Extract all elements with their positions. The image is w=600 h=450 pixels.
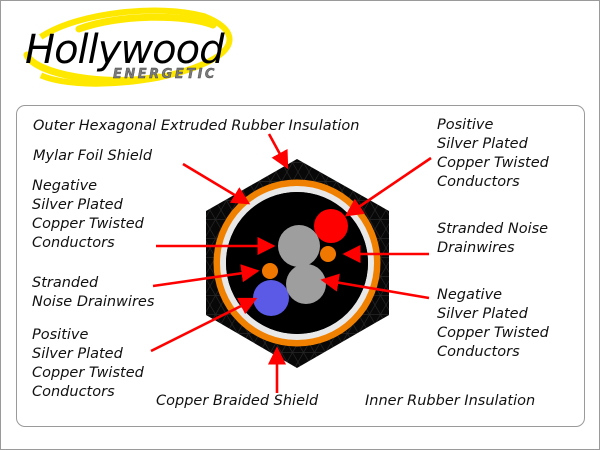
hollywood-energetic-logo: Hollywood ENERGETIC bbox=[9, 5, 239, 91]
label-outer-hexagonal-rubber-insulation: Outer Hexagonal Extruded Rubber Insulati… bbox=[33, 117, 359, 136]
label-stranded-noise-drainwires-left: Stranded Noise Drainwires bbox=[32, 274, 154, 312]
label-positive-conductors-left: Positive Silver Plated Copper Twisted Co… bbox=[32, 326, 144, 402]
label-negative-conductors-right: Negative Silver Plated Copper Twisted Co… bbox=[437, 286, 549, 362]
cable-cross-section-infographic: Hollywood ENERGETIC bbox=[0, 0, 600, 450]
label-mylar-foil-shield: Mylar Foil Shield bbox=[33, 147, 152, 166]
logo-tagline: ENERGETIC bbox=[113, 67, 217, 82]
label-positive-conductors-right: Positive Silver Plated Copper Twisted Co… bbox=[437, 116, 549, 192]
label-stranded-noise-drainwires-right: Stranded Noise Drainwires bbox=[437, 220, 548, 258]
label-copper-braided-shield: Copper Braided Shield bbox=[156, 392, 318, 411]
label-negative-conductors-left: Negative Silver Plated Copper Twisted Co… bbox=[32, 177, 144, 253]
label-inner-rubber-insulation: Inner Rubber Insulation bbox=[365, 392, 535, 411]
